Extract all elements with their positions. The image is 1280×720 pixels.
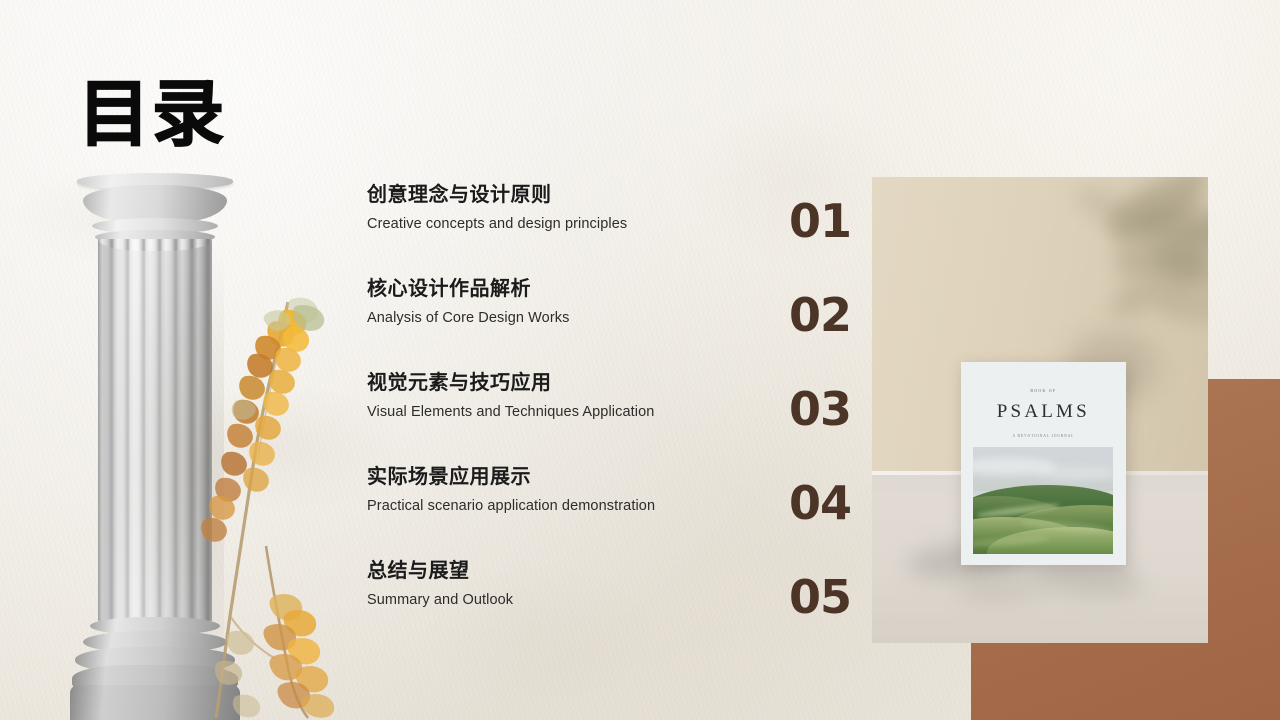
cloud bbox=[1036, 466, 1113, 480]
book-kicker-text: BOOK OF bbox=[961, 388, 1126, 393]
toc-item-title-en: Analysis of Core Design Works bbox=[367, 310, 767, 327]
table-shadow bbox=[955, 575, 1046, 604]
presentation-slide: 目录 bbox=[0, 0, 1280, 720]
toc-list: 创意理念与设计原则 Creative concepts and design p… bbox=[367, 182, 767, 652]
book-cover-landscape-photo bbox=[973, 447, 1113, 553]
toc-item[interactable]: 创意理念与设计原则 Creative concepts and design p… bbox=[367, 182, 767, 276]
toc-item-number: 01 bbox=[789, 198, 869, 292]
toc-item-title-cn: 核心设计作品解析 bbox=[367, 276, 767, 301]
column-shaft bbox=[98, 239, 212, 621]
book-title-text: PSALMS bbox=[961, 401, 1126, 423]
toc-item[interactable]: 核心设计作品解析 Analysis of Core Design Works bbox=[367, 276, 767, 370]
column-flutes bbox=[98, 239, 212, 621]
page-title: 目录 bbox=[78, 78, 226, 150]
toc-item-title-en: Visual Elements and Techniques Applicati… bbox=[367, 404, 767, 421]
feature-photo: BOOK OF PSALMS A DEVOTIONAL JOURNAL bbox=[872, 177, 1208, 643]
book-subtitle-text: A DEVOTIONAL JOURNAL bbox=[961, 434, 1126, 438]
toc-item-number: 02 bbox=[789, 292, 869, 386]
toc-item-title-cn: 视觉元素与技巧应用 bbox=[367, 370, 767, 395]
book-cover: BOOK OF PSALMS A DEVOTIONAL JOURNAL bbox=[961, 362, 1126, 565]
toc-item-number: 04 bbox=[789, 480, 869, 574]
toc-item-title-en: Creative concepts and design principles bbox=[367, 216, 767, 233]
table-shadow bbox=[1032, 561, 1144, 600]
toc-item[interactable]: 总结与展望 Summary and Outlook bbox=[367, 558, 767, 652]
toc-item-number: 05 bbox=[789, 574, 869, 668]
toc-number-column: 01 02 03 04 05 bbox=[789, 198, 869, 668]
toc-item[interactable]: 实际场景应用展示 Practical scenario application … bbox=[367, 464, 767, 558]
toc-item-title-cn: 实际场景应用展示 bbox=[367, 464, 767, 489]
toc-item-title-cn: 总结与展望 bbox=[367, 558, 767, 583]
toc-item-number: 03 bbox=[789, 386, 869, 480]
sprig-svg bbox=[196, 296, 366, 720]
toc-item-title-cn: 创意理念与设计原则 bbox=[367, 182, 767, 207]
dried-flower-sprig bbox=[196, 296, 366, 720]
toc-item-title-en: Practical scenario application demonstra… bbox=[367, 498, 767, 515]
toc-item[interactable]: 视觉元素与技巧应用 Visual Elements and Techniques… bbox=[367, 370, 767, 464]
toc-item-title-en: Summary and Outlook bbox=[367, 592, 767, 609]
